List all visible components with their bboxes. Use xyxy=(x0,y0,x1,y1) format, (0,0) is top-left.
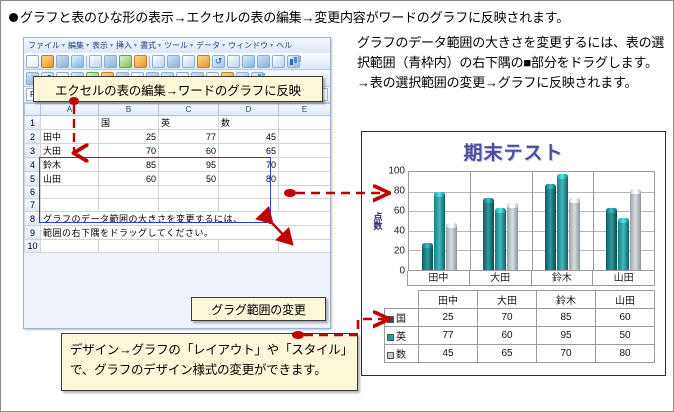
cell-b5[interactable]: 60 xyxy=(99,172,159,186)
cell-c10[interactable] xyxy=(159,240,219,253)
cell-b6[interactable] xyxy=(99,186,159,199)
cell-c7[interactable] xyxy=(159,199,219,212)
bar-group xyxy=(409,172,470,270)
column-header-e[interactable]: E xyxy=(279,104,331,116)
data-table-header-1: 大田 xyxy=(478,291,537,309)
y-axis-ticks: 100 80 60 40 20 0 xyxy=(384,171,408,271)
cell-e2[interactable] xyxy=(279,130,331,144)
table-row: 国 25 70 85 60 xyxy=(385,309,655,327)
column-header-c[interactable]: C xyxy=(159,104,219,116)
cell-d4[interactable]: 70 xyxy=(219,158,279,172)
table-row[interactable]: 4 鈴木 85 95 70 xyxy=(25,158,331,172)
row-header[interactable]: 4 xyxy=(25,158,41,172)
format-painter-icon[interactable] xyxy=(197,55,210,68)
callout-toolbar-text: エクセルの表の編集→ワードのグラフに反映 xyxy=(55,80,301,99)
word-chart-panel[interactable]: 期末テスト 点数 100 80 60 40 20 0 xyxy=(361,131,666,376)
cell-b10[interactable] xyxy=(99,240,159,253)
data-cell: 60 xyxy=(478,327,537,345)
table-row[interactable]: 10 xyxy=(25,240,331,253)
callout-design-text: デザイン→グラフの「レイアウト」や「スタイル」で、グラフのデザイン様式の変更がで… xyxy=(70,343,347,377)
data-table-header-0: 田中 xyxy=(419,291,478,309)
menu-item-data[interactable]: データ xyxy=(195,40,221,51)
bar-国-田中 xyxy=(422,246,433,271)
cell-e6[interactable] xyxy=(279,186,331,199)
menu-item-view[interactable]: 表示 xyxy=(91,40,109,51)
column-header-a[interactable]: A xyxy=(41,104,99,116)
cell-a1[interactable] xyxy=(41,116,99,130)
data-cell: 70 xyxy=(478,309,537,327)
toolbar-separator xyxy=(86,56,87,68)
data-cell: 85 xyxy=(537,309,596,327)
table-row[interactable]: 5 山田 60 50 80 xyxy=(25,172,331,186)
bar-group xyxy=(532,172,593,270)
chart-plot-area: 点数 100 80 60 40 20 0 xyxy=(370,171,655,271)
row-header[interactable]: 3 xyxy=(25,144,41,158)
callout-range-note: グラグ範囲の変更 xyxy=(191,297,326,321)
menu-item-tools[interactable]: ツール xyxy=(163,40,189,51)
row-header[interactable]: 7 xyxy=(25,199,41,212)
y-tick-0: 0 xyxy=(399,266,405,277)
cell-c4[interactable]: 95 xyxy=(159,158,219,172)
cell-d3[interactable]: 65 xyxy=(219,144,279,158)
x-axis-label: 大田 xyxy=(469,271,532,286)
cell-a9-note[interactable]: 範囲の右下隅をドラッグしてください。 xyxy=(41,226,331,240)
save-icon[interactable] xyxy=(56,55,69,68)
instruction-paragraph: グラフのデータ範囲の大きさを変更するには、表の選択範囲（青枠内）の右下隅の■部分… xyxy=(357,33,667,93)
data-cell: 70 xyxy=(537,345,596,363)
bar-group xyxy=(593,172,654,270)
hyperlink-icon[interactable] xyxy=(242,55,255,68)
row-header[interactable]: 10 xyxy=(25,240,41,253)
row-header[interactable]: 9 xyxy=(25,226,41,240)
spreadsheet-grid[interactable]: A B C D E 1 国 英 数 2 田中 25 xyxy=(24,103,330,253)
cell-a7[interactable] xyxy=(41,199,99,212)
bar-英-鈴木 xyxy=(557,177,568,270)
x-axis-label: 田中 xyxy=(407,271,470,286)
cell-b3[interactable]: 70 xyxy=(99,144,159,158)
callout-design-note: デザイン→グラフの「レイアウト」や「スタイル」で、グラフのデザイン様式の変更がで… xyxy=(61,333,358,391)
spellcheck-icon[interactable] xyxy=(119,55,132,68)
bar-国-大田 xyxy=(483,201,494,270)
cell-a10[interactable] xyxy=(41,240,99,253)
cell-e10[interactable] xyxy=(279,240,331,253)
bar-国-鈴木 xyxy=(545,187,556,270)
cell-d6[interactable] xyxy=(219,186,279,199)
legend-entry-kokugo: 国 xyxy=(385,309,419,327)
data-table-corner xyxy=(385,291,419,309)
row-header[interactable]: 8 xyxy=(25,212,41,226)
cell-c6[interactable] xyxy=(159,186,219,199)
cell-a5[interactable]: 山田 xyxy=(41,172,99,186)
copy-icon[interactable] xyxy=(167,55,180,68)
sort-icon[interactable] xyxy=(272,55,285,68)
y-tick-20: 20 xyxy=(394,246,405,257)
cell-d10[interactable] xyxy=(219,240,279,253)
data-cell: 80 xyxy=(596,345,655,363)
data-cell: 60 xyxy=(596,309,655,327)
legend-entry-eigo: 英 xyxy=(385,327,419,345)
excel-menu-bar[interactable]: ファイル▾ 編集▾ 表示▾ 挿入▾ 書式▾ ツール▾ データ▾ ウィンドウ▾ ヘ… xyxy=(24,38,330,53)
y-tick-100: 100 xyxy=(388,166,405,177)
bar-数-大田 xyxy=(507,206,518,270)
series-name-2: 数 xyxy=(396,350,406,361)
cell-d7[interactable] xyxy=(219,199,279,212)
menu-item-help[interactable]: ヘル xyxy=(275,40,293,51)
chart-wizard-icon[interactable] xyxy=(287,55,300,68)
paste-icon[interactable] xyxy=(182,55,195,68)
legend-swatch-icon xyxy=(387,316,394,323)
new-file-icon[interactable] xyxy=(26,55,39,68)
bar-英-山田 xyxy=(618,221,629,270)
bar-英-大田 xyxy=(495,211,506,270)
redo-icon[interactable] xyxy=(227,55,240,68)
cut-icon[interactable] xyxy=(152,55,165,68)
select-all-corner[interactable] xyxy=(25,104,41,116)
cell-a6[interactable] xyxy=(41,186,99,199)
excel-standard-toolbar[interactable] xyxy=(24,53,330,70)
cell-e1[interactable] xyxy=(279,116,331,130)
y-tick-80: 80 xyxy=(394,186,405,197)
cell-a2[interactable]: 田中 xyxy=(41,130,99,144)
callout-range-text: グラグ範囲の変更 xyxy=(211,301,305,318)
chart-title: 期末テスト xyxy=(362,138,665,165)
menu-item-window[interactable]: ウィンドウ xyxy=(227,40,269,51)
cell-c3[interactable]: 60 xyxy=(159,144,219,158)
legend-entry-suugaku: 数 xyxy=(385,345,419,363)
cell-a8-note[interactable]: グラフのデータ範囲の大きさを変更するには、 xyxy=(41,212,331,226)
bar-group xyxy=(470,172,531,270)
table-row[interactable]: 3 大田 70 60 65 xyxy=(25,144,331,158)
series-name-0: 国 xyxy=(396,314,406,325)
menu-item-format[interactable]: 書式 xyxy=(139,40,157,51)
chart-bars xyxy=(409,172,654,270)
row-header[interactable]: 1 xyxy=(25,116,41,130)
table-row: 英 77 60 95 50 xyxy=(385,327,655,345)
bullet-icon xyxy=(9,13,18,22)
print-icon[interactable] xyxy=(89,55,102,68)
column-header-row: A B C D E xyxy=(25,104,331,116)
menu-item-edit[interactable]: 編集 xyxy=(67,40,85,51)
y-tick-40: 40 xyxy=(394,226,405,237)
bar-国-山田 xyxy=(606,211,617,270)
menu-item-insert[interactable]: 挿入 xyxy=(115,40,133,51)
series-name-1: 英 xyxy=(396,332,406,343)
open-folder-icon[interactable] xyxy=(41,55,54,68)
legend-swatch-icon xyxy=(387,334,394,341)
mail-icon[interactable] xyxy=(71,55,84,68)
cell-b4[interactable]: 85 xyxy=(99,158,159,172)
bar-数-山田 xyxy=(630,192,641,270)
table-row[interactable]: 2 田中 25 77 45 xyxy=(25,130,331,144)
cell-a4[interactable]: 鈴木 xyxy=(41,158,99,172)
table-row[interactable]: 6 xyxy=(25,186,331,199)
table-row[interactable]: 8 グラフのデータ範囲の大きさを変更するには、 xyxy=(25,212,331,226)
x-axis-labels: 田中大田鈴木山田 xyxy=(408,271,655,286)
data-cell: 45 xyxy=(419,345,478,363)
chart-data-table: 田中 大田 鈴木 山田 国 25 70 85 60 英 77 60 95 xyxy=(384,290,655,363)
bar-数-鈴木 xyxy=(569,201,580,270)
cell-c2[interactable]: 77 xyxy=(159,130,219,144)
data-cell: 25 xyxy=(419,309,478,327)
row-header[interactable]: 6 xyxy=(25,186,41,199)
data-cell: 95 xyxy=(537,327,596,345)
table-row[interactable]: 1 国 英 数 xyxy=(25,116,331,130)
menu-item-file[interactable]: ファイル xyxy=(27,40,61,51)
cell-e5[interactable] xyxy=(279,172,331,186)
row-header[interactable]: 5 xyxy=(25,172,41,186)
legend-swatch-icon xyxy=(387,352,394,359)
selection-drag-handle[interactable] xyxy=(268,220,273,225)
row-header[interactable]: 2 xyxy=(25,130,41,144)
bar-英-田中 xyxy=(434,195,445,270)
table-row[interactable]: 7 xyxy=(25,199,331,212)
y-tick-60: 60 xyxy=(394,206,405,217)
toolbar-separator xyxy=(149,56,150,68)
y-axis-title: 点数 xyxy=(370,171,384,271)
chart-plot xyxy=(408,171,655,271)
table-row[interactable]: 9 範囲の右下隅をドラッグしてください。 xyxy=(25,226,331,240)
cell-a3[interactable]: 大田 xyxy=(41,144,99,158)
cell-b7[interactable] xyxy=(99,199,159,212)
research-icon[interactable] xyxy=(134,55,147,68)
data-cell: 50 xyxy=(596,327,655,345)
x-axis-label: 山田 xyxy=(592,271,655,286)
cell-d5[interactable]: 80 xyxy=(219,172,279,186)
data-cell: 65 xyxy=(478,345,537,363)
print-preview-icon[interactable] xyxy=(104,55,117,68)
cell-e3[interactable] xyxy=(279,144,331,158)
cell-b2[interactable]: 25 xyxy=(99,130,159,144)
table-row: 数 45 65 70 80 xyxy=(385,345,655,363)
data-table-header-3: 山田 xyxy=(596,291,655,309)
column-header-d[interactable]: D xyxy=(219,104,279,116)
cell-d2[interactable]: 45 xyxy=(219,130,279,144)
data-table-header-2: 鈴木 xyxy=(537,291,596,309)
cell-c1[interactable]: 英 xyxy=(159,116,219,130)
cell-e7[interactable] xyxy=(279,199,331,212)
bar-数-田中 xyxy=(446,226,457,270)
column-header-b[interactable]: B xyxy=(99,104,159,116)
undo-icon[interactable] xyxy=(212,55,225,68)
cell-e4[interactable] xyxy=(279,158,331,172)
data-cell: 77 xyxy=(419,327,478,345)
cell-b1[interactable]: 国 xyxy=(99,116,159,130)
x-axis-label: 鈴木 xyxy=(531,271,594,286)
cell-c5[interactable]: 50 xyxy=(159,172,219,186)
cell-d1[interactable]: 数 xyxy=(219,116,279,130)
page-root: グラフと表のひな形の表示→エクセルの表の編集→変更内容がワードのグラフに反映され… xyxy=(0,0,674,412)
y-axis-title-text: 点数 xyxy=(373,212,382,230)
table-row: 田中 大田 鈴木 山田 xyxy=(385,291,655,309)
autosum-icon[interactable] xyxy=(257,55,270,68)
page-headline: グラフと表のひな形の表示→エクセルの表の編集→変更内容がワードのグラフに反映され… xyxy=(9,7,669,26)
callout-toolbar-note: エクセルの表の編集→ワードのグラフに反映 xyxy=(33,76,323,102)
headline-text: グラフと表のひな形の表示→エクセルの表の編集→変更内容がワードのグラフに反映され… xyxy=(20,10,569,25)
